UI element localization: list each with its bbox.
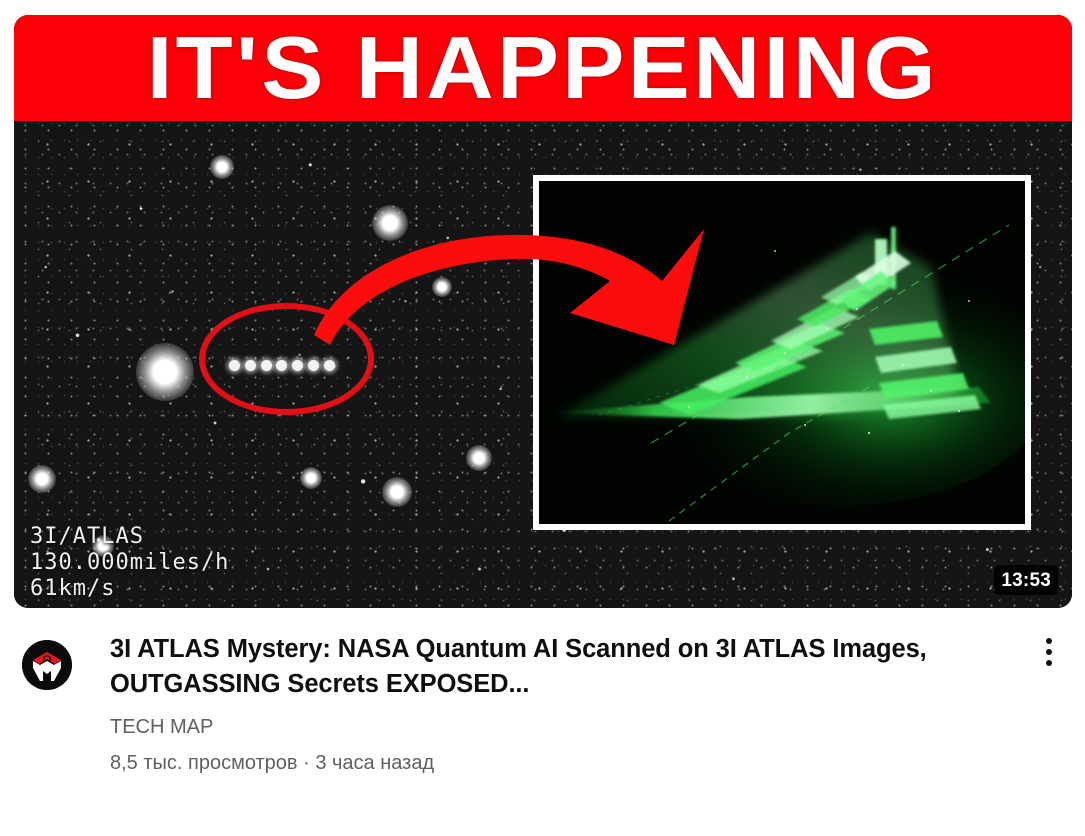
headline-banner-text: IT'S HAPPENING — [147, 24, 939, 112]
anomalous-object-dots — [229, 359, 335, 372]
inset-image-frame — [533, 175, 1031, 530]
kebab-dot — [1046, 660, 1052, 666]
kebab-dot — [1046, 638, 1052, 644]
video-thumbnail[interactable]: 3I/ATLAS 130.000miles/h 61km/s IT'S HAPP… — [14, 15, 1072, 608]
video-duration-badge: 13:53 — [994, 565, 1058, 595]
video-title[interactable]: 3I ATLAS Mystery: NASA Quantum AI Scanne… — [110, 632, 990, 702]
video-card: 3I/ATLAS 130.000miles/h 61km/s IT'S HAPP… — [0, 0, 1085, 836]
telemetry-overlay: 3I/ATLAS 130.000miles/h 61km/s — [30, 524, 229, 602]
channel-name[interactable]: TECH MAP — [110, 714, 1032, 740]
kebab-dot — [1046, 649, 1052, 655]
headline-banner: IT'S HAPPENING — [14, 15, 1072, 121]
channel-logo-icon — [22, 640, 72, 690]
telemetry-line-1: 3I/ATLAS — [30, 524, 144, 549]
green-spacecraft-illustration — [539, 181, 1025, 524]
channel-avatar[interactable] — [22, 640, 72, 690]
video-stats: 8,5 тыс. просмотров · 3 часа назад — [110, 750, 1032, 776]
telemetry-line-3: 61km/s — [30, 576, 115, 601]
video-meta-row: 3I ATLAS Mystery: NASA Quantum AI Scanne… — [14, 622, 1072, 822]
more-vertical-icon[interactable] — [1032, 638, 1066, 666]
video-text-block: 3I ATLAS Mystery: NASA Quantum AI Scanne… — [110, 622, 1032, 776]
telemetry-line-2: 130.000miles/h — [30, 550, 229, 575]
